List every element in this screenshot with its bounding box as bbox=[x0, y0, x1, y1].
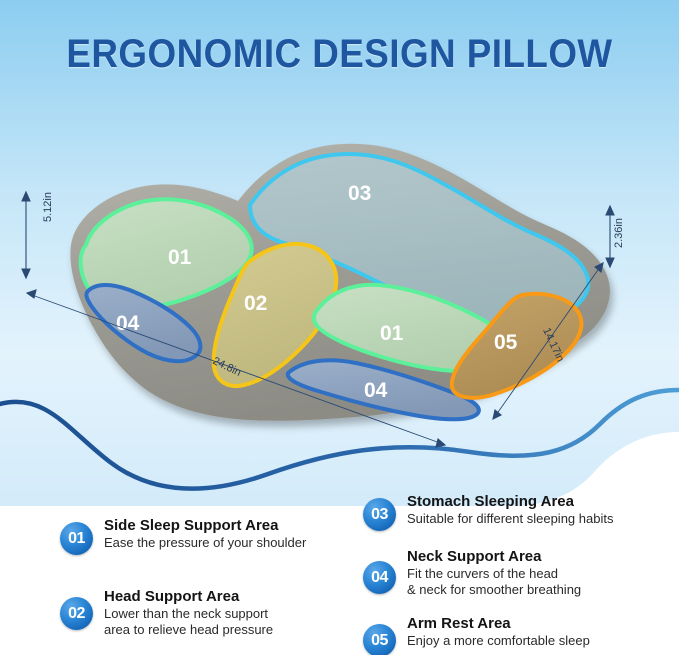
legend-desc-05: Enjoy a more comfortable sleep bbox=[407, 633, 673, 649]
arrow-height-bottom bbox=[22, 269, 30, 278]
zone-04-left-label: 04 bbox=[116, 312, 140, 335]
legend-text-03: Stomach Sleeping Area Suitable for diffe… bbox=[407, 492, 673, 527]
legend-text-02: Head Support Area Lower than the neck su… bbox=[104, 587, 360, 638]
legend-badge-04: 04 bbox=[363, 561, 396, 594]
legend-title-04: Neck Support Area bbox=[407, 547, 673, 566]
page-title: ERGONOMIC DESIGN PILLOW bbox=[27, 32, 652, 77]
arrow-depth-top bbox=[606, 206, 614, 215]
legend-item-02[interactable]: 02 Head Support Area Lower than the neck… bbox=[60, 587, 360, 638]
legend-title-02: Head Support Area bbox=[104, 587, 360, 606]
legend-desc-03-line-1: Suitable for different sleeping habits bbox=[407, 511, 673, 527]
legend-desc-02: Lower than the neck support area to reli… bbox=[104, 606, 360, 638]
legend-desc-04: Fit the curvers of the head & neck for s… bbox=[407, 566, 673, 598]
arrow-diagonal-end bbox=[493, 410, 501, 419]
zone-04-right-label: 04 bbox=[364, 379, 388, 402]
pillow-illustration: 03 01 04 02 01 04 05 bbox=[0, 95, 679, 455]
zone-05-label: 05 bbox=[494, 331, 518, 354]
legend-title-03: Stomach Sleeping Area bbox=[407, 492, 673, 511]
legend-desc-04-line-1: Fit the curvers of the head bbox=[407, 566, 673, 582]
legend-item-01[interactable]: 01 Side Sleep Support Area Ease the pres… bbox=[60, 516, 360, 551]
legend-text-04: Neck Support Area Fit the curvers of the… bbox=[407, 547, 673, 598]
legend-desc-01-line-1: Ease the pressure of your shoulder bbox=[104, 535, 360, 551]
legend-item-04[interactable]: 04 Neck Support Area Fit the curvers of … bbox=[363, 547, 673, 598]
legend-text-01: Side Sleep Support Area Ease the pressur… bbox=[104, 516, 360, 551]
dimension-depth-label: 2.36in bbox=[613, 218, 625, 248]
legend-column-right: 03 Stomach Sleeping Area Suitable for di… bbox=[363, 492, 673, 649]
legend-desc-03: Suitable for different sleeping habits bbox=[407, 511, 673, 527]
legend-badge-01: 01 bbox=[60, 522, 93, 555]
zone-01-right-label: 01 bbox=[380, 322, 404, 345]
legend-badge-03: 03 bbox=[363, 498, 396, 531]
legend-badge-05: 05 bbox=[363, 624, 396, 655]
legend-desc-04-line-2: & neck for smoother breathing bbox=[407, 582, 673, 598]
legend-desc-02-line-2: area to relieve head pressure bbox=[104, 622, 360, 638]
dimension-height-label: 5.12in bbox=[42, 192, 54, 222]
legend-item-05[interactable]: 05 Arm Rest Area Enjoy a more comfortabl… bbox=[363, 614, 673, 649]
legend-badge-02: 02 bbox=[60, 597, 93, 630]
zone-03-label: 03 bbox=[348, 182, 371, 205]
legend-title-01: Side Sleep Support Area bbox=[104, 516, 360, 535]
arrow-width-end bbox=[436, 439, 445, 447]
zone-01-left-label: 01 bbox=[168, 246, 192, 269]
infographic-page: ERGONOMIC DESIGN PILLOW bbox=[0, 0, 679, 655]
legend: 01 Side Sleep Support Area Ease the pres… bbox=[0, 492, 679, 655]
legend-desc-01: Ease the pressure of your shoulder bbox=[104, 535, 360, 551]
legend-title-05: Arm Rest Area bbox=[407, 614, 673, 633]
zone-02-label: 02 bbox=[244, 292, 267, 315]
arrow-width-start bbox=[27, 290, 36, 298]
arrow-depth-bottom bbox=[606, 258, 614, 267]
legend-text-05: Arm Rest Area Enjoy a more comfortable s… bbox=[407, 614, 673, 649]
legend-desc-05-line-1: Enjoy a more comfortable sleep bbox=[407, 633, 673, 649]
legend-column-left: 01 Side Sleep Support Area Ease the pres… bbox=[60, 492, 360, 638]
legend-item-03[interactable]: 03 Stomach Sleeping Area Suitable for di… bbox=[363, 492, 673, 527]
arrow-height-top bbox=[22, 192, 30, 201]
legend-desc-02-line-1: Lower than the neck support bbox=[104, 606, 360, 622]
